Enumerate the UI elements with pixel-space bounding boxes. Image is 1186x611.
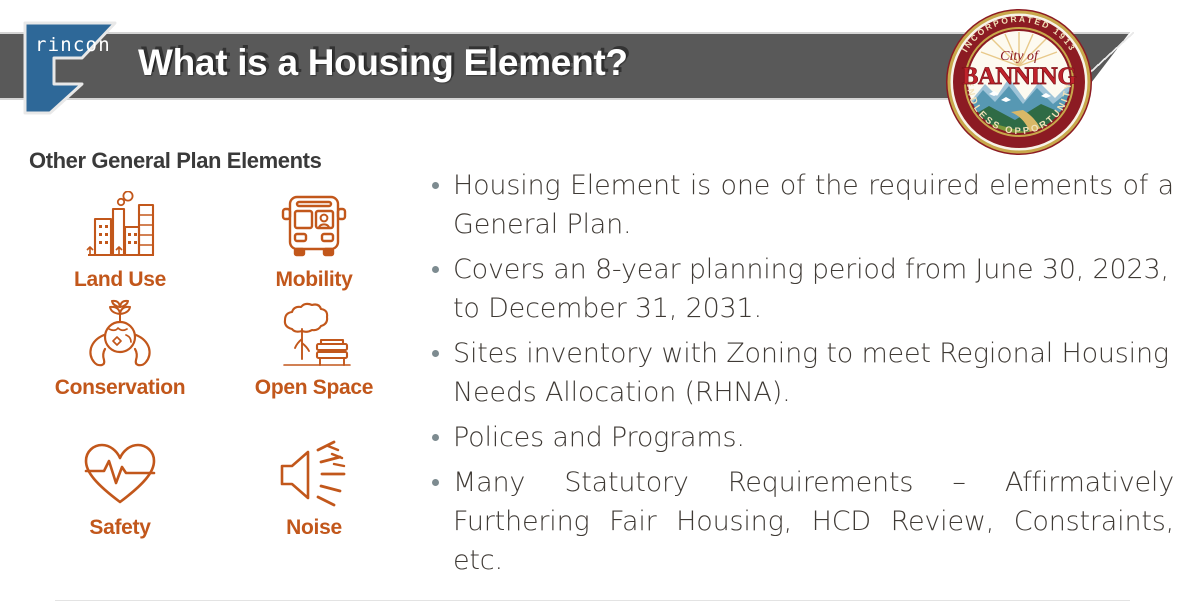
element-label: Mobility [276, 268, 353, 292]
bullet-dot-icon [432, 182, 439, 189]
bullet-text: Many Statutory Requirements – Affirmativ… [453, 463, 1174, 580]
bullet-dot-icon [432, 266, 439, 273]
general-plan-elements-grid: Land Use Mobil [30, 190, 410, 578]
element-label: Noise [286, 516, 342, 540]
bullet-dot-icon [432, 434, 439, 441]
element-land-use: Land Use [30, 190, 210, 298]
element-open-space: Open Space [224, 298, 404, 438]
element-label: Open Space [255, 376, 373, 400]
hands-globe-sprout-icon [82, 298, 158, 372]
list-item: Housing Element is one of the required e… [432, 166, 1174, 244]
bullet-text: Covers an 8-year planning period from Ju… [453, 250, 1174, 328]
tree-bench-icon [274, 298, 354, 372]
bullet-text: Sites inventory with Zoning to meet Regi… [453, 334, 1174, 412]
bullet-text: Housing Element is one of the required e… [453, 166, 1174, 244]
list-item: Sites inventory with Zoning to meet Regi… [432, 334, 1174, 412]
element-noise: Noise [224, 438, 404, 578]
seal-script-text: City of [1000, 49, 1040, 64]
element-conservation: Conservation [30, 298, 210, 438]
page-title: What is a Housing Element? [138, 42, 628, 84]
rincon-logo: rincon [22, 20, 120, 116]
bullet-dot-icon [432, 350, 439, 357]
other-general-plan-elements-heading: Other General Plan Elements [29, 148, 321, 174]
bullet-dot-icon [432, 479, 439, 486]
list-item: Many Statutory Requirements – Affirmativ… [432, 463, 1174, 580]
city-of-banning-seal: INCORPORATED 1913 ENDLESS OPPORTUNITY Ci… [945, 8, 1093, 156]
element-label: Safety [89, 516, 150, 540]
element-label: Conservation [55, 376, 186, 400]
speaker-soundwaves-icon [276, 438, 352, 512]
list-item: Covers an 8-year planning period from Ju… [432, 250, 1174, 328]
heart-ekg-icon [80, 438, 160, 512]
bullet-text: Polices and Programs. [453, 418, 1174, 457]
rincon-wordmark: rincon [35, 34, 111, 56]
presentation-slide: What is a Housing Element? What is a Hou… [0, 0, 1186, 611]
bus-icon [277, 190, 351, 264]
seal-main-text: BANNING [962, 63, 1077, 90]
element-safety: Safety [30, 438, 210, 578]
element-mobility: Mobility [224, 190, 404, 298]
element-label: Land Use [74, 268, 166, 292]
seal-artwork: INCORPORATED 1913 ENDLESS OPPORTUNITY Ci… [945, 8, 1093, 156]
bullet-list: Housing Element is one of the required e… [432, 166, 1174, 586]
list-item: Polices and Programs. [432, 418, 1174, 457]
city-buildings-icon [83, 190, 157, 264]
footer-divider [55, 600, 1130, 601]
